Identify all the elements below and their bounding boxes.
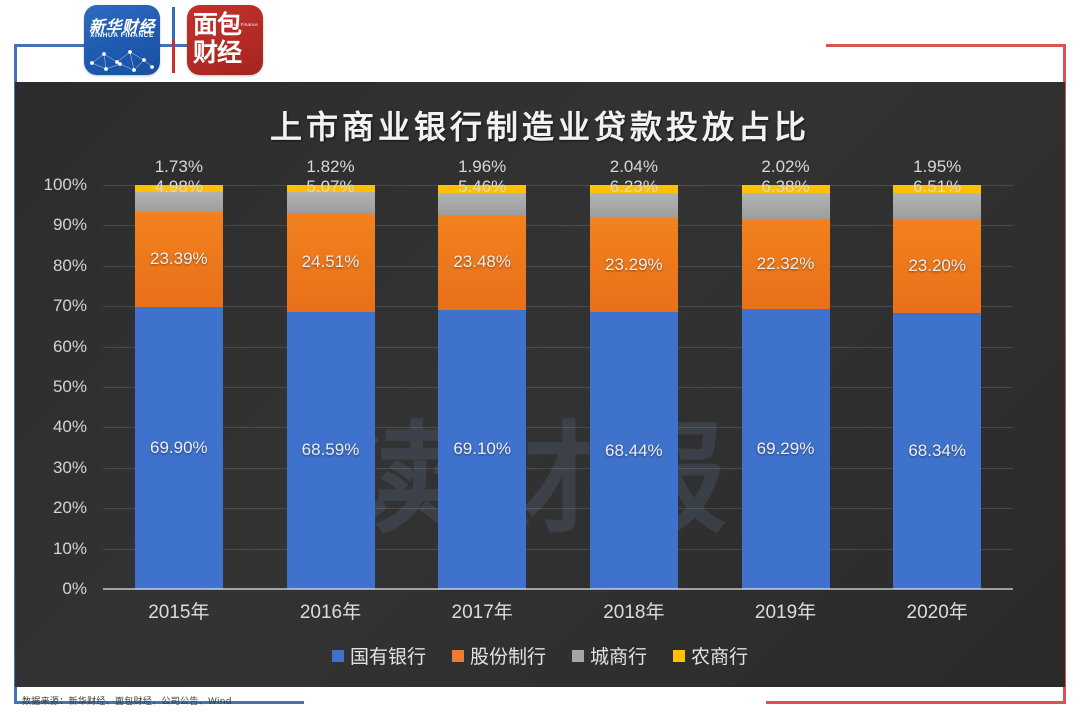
frame-right-bottom-rule <box>766 701 1066 704</box>
y-axis-tick-label: 80% <box>53 256 87 276</box>
bread-logo-en-text: Bread Finance <box>226 22 258 27</box>
chart-panel: 上市商业银行制造业贷款投放占比 读财报 0%10%20%30%40%50%60%… <box>15 82 1065 687</box>
legend-item-股份制行[interactable]: 股份制行 <box>452 642 546 669</box>
bar-segment-value: 68.44% <box>605 441 663 461</box>
bread-finance-logo: 面包财经 Bread Finance <box>187 5 263 75</box>
legend-label: 农商行 <box>691 642 748 669</box>
x-axis-line <box>103 588 1013 590</box>
bread-logo-cn-text: 面包财经 <box>193 11 257 69</box>
bar-segment-value: 23.29% <box>605 255 663 275</box>
stacked-bar[interactable]: 24.51%68.59%1.82%5.07% <box>287 185 375 589</box>
chart-legend: 国有银行股份制行城商行农商行 <box>15 642 1065 669</box>
bar-segment-value-城商行: 6.51% <box>913 177 961 197</box>
legend-label: 城商行 <box>590 642 647 669</box>
y-axis-tick-label: 10% <box>53 539 87 559</box>
stacked-bar[interactable]: 23.39%69.90%1.73%4.98% <box>135 185 223 589</box>
logo-divider <box>172 7 175 73</box>
bar-slot: 23.29%68.44%2.04%6.23% <box>558 185 710 589</box>
stacked-bar[interactable]: 23.48%69.10%1.96%5.46% <box>438 185 526 589</box>
legend-item-农商行[interactable]: 农商行 <box>673 642 748 669</box>
y-axis-tick-label: 90% <box>53 215 87 235</box>
y-axis-tick-label: 20% <box>53 498 87 518</box>
x-axis-tick-label: 2020年 <box>861 597 1013 624</box>
bar-slot: 22.32%69.29%2.02%6.38% <box>710 185 862 589</box>
x-axis-tick-label: 2019年 <box>710 597 862 624</box>
bar-segment-股份制行[interactable]: 23.20% <box>893 219 981 313</box>
legend-swatch-icon <box>572 650 584 662</box>
bar-slot: 23.48%69.10%1.96%5.46% <box>406 185 558 589</box>
legend-swatch-icon <box>673 650 685 662</box>
logo-divider-blue <box>172 7 175 40</box>
x-axis-tick-label: 2016年 <box>255 597 407 624</box>
bar-group: 23.39%69.90%1.73%4.98%24.51%68.59%1.82%5… <box>103 185 1013 589</box>
bar-segment-value-城商行: 6.38% <box>761 177 809 197</box>
plot-area: 23.39%69.90%1.73%4.98%24.51%68.59%1.82%5… <box>103 185 1013 589</box>
legend-label: 股份制行 <box>470 642 546 669</box>
bar-segment-value: 23.39% <box>150 249 208 269</box>
page-header: 新华财经 XINHUA FINANCE <box>0 0 1080 82</box>
bar-segment-value-城商行: 6.23% <box>610 177 658 197</box>
bar-segment-value-农商行: 2.04% <box>610 157 658 177</box>
bar-slot: 23.20%68.34%1.95%6.51% <box>861 185 1013 589</box>
bar-segment-城商行[interactable] <box>742 193 830 219</box>
stacked-bar[interactable]: 23.20%68.34%1.95%6.51% <box>893 185 981 589</box>
bar-slot: 23.39%69.90%1.73%4.98% <box>103 185 255 589</box>
bar-segment-value: 69.10% <box>453 439 511 459</box>
logo-group: 新华财经 XINHUA FINANCE <box>84 5 263 75</box>
y-axis-tick-label: 40% <box>53 417 87 437</box>
bar-segment-国有银行[interactable]: 68.44% <box>590 312 678 588</box>
y-axis-tick-label: 60% <box>53 337 87 357</box>
bar-segment-value-农商行: 2.02% <box>761 157 809 177</box>
bar-segment-国有银行[interactable]: 68.34% <box>893 313 981 589</box>
bar-segment-value-城商行: 5.46% <box>458 177 506 197</box>
bar-segment-value: 68.34% <box>908 441 966 461</box>
bar-segment-股份制行[interactable]: 22.32% <box>742 219 830 309</box>
bar-segment-value: 22.32% <box>757 254 815 274</box>
bar-segment-value-农商行: 1.82% <box>306 157 354 177</box>
y-axis-tick-label: 50% <box>53 377 87 397</box>
y-axis-tick-label: 30% <box>53 458 87 478</box>
network-dots-icon <box>84 43 160 75</box>
bar-segment-value: 69.29% <box>757 439 815 459</box>
bar-segment-value-城商行: 5.07% <box>306 177 354 197</box>
y-axis-tick-label: 0% <box>62 579 87 599</box>
bar-segment-国有银行[interactable]: 69.90% <box>135 307 223 589</box>
bar-segment-value-农商行: 1.95% <box>913 157 961 177</box>
stacked-bar[interactable]: 23.29%68.44%2.04%6.23% <box>590 185 678 589</box>
bar-segment-国有银行[interactable]: 68.59% <box>287 312 375 589</box>
source-note: 数据来源：新华财经、面包财经、公司公告、Wind <box>22 694 232 707</box>
bar-segment-value: 69.90% <box>150 438 208 458</box>
bar-segment-城商行[interactable] <box>590 193 678 218</box>
bar-segment-股份制行[interactable]: 23.29% <box>590 218 678 312</box>
x-axis-tick-label: 2017年 <box>406 597 558 624</box>
x-axis-labels: 2015年2016年2017年2018年2019年2020年 <box>103 597 1013 624</box>
bar-slot: 24.51%68.59%1.82%5.07% <box>255 185 407 589</box>
y-axis-tick-label: 100% <box>44 175 87 195</box>
legend-swatch-icon <box>332 650 344 662</box>
bar-segment-value: 23.20% <box>908 256 966 276</box>
bar-segment-value-农商行: 1.73% <box>155 157 203 177</box>
x-axis-tick-label: 2015年 <box>103 597 255 624</box>
stacked-bar[interactable]: 22.32%69.29%2.02%6.38% <box>742 185 830 589</box>
bar-segment-股份制行[interactable]: 24.51% <box>287 213 375 312</box>
bar-segment-value: 23.48% <box>453 252 511 272</box>
bar-segment-value: 24.51% <box>302 252 360 272</box>
bar-segment-股份制行[interactable]: 23.39% <box>135 212 223 306</box>
xinhua-logo-en-text: XINHUA FINANCE <box>84 32 160 39</box>
bar-segment-value-农商行: 1.96% <box>458 157 506 177</box>
legend-label: 国有银行 <box>350 642 426 669</box>
bar-segment-value: 68.59% <box>302 440 360 460</box>
y-axis-tick-label: 70% <box>53 296 87 316</box>
y-axis-labels: 0%10%20%30%40%50%60%70%80%90%100% <box>15 185 97 589</box>
chart-title: 上市商业银行制造业贷款投放占比 <box>15 102 1065 148</box>
logo-divider-red <box>172 40 175 73</box>
x-axis-tick-label: 2018年 <box>558 597 710 624</box>
legend-item-城商行[interactable]: 城商行 <box>572 642 647 669</box>
xinhua-finance-logo: 新华财经 XINHUA FINANCE <box>84 5 160 75</box>
bar-segment-国有银行[interactable]: 69.10% <box>438 310 526 589</box>
bar-segment-value-城商行: 4.98% <box>155 177 203 197</box>
bar-segment-国有银行[interactable]: 69.29% <box>742 309 830 589</box>
legend-item-国有银行[interactable]: 国有银行 <box>332 642 426 669</box>
bar-segment-股份制行[interactable]: 23.48% <box>438 215 526 310</box>
legend-swatch-icon <box>452 650 464 662</box>
